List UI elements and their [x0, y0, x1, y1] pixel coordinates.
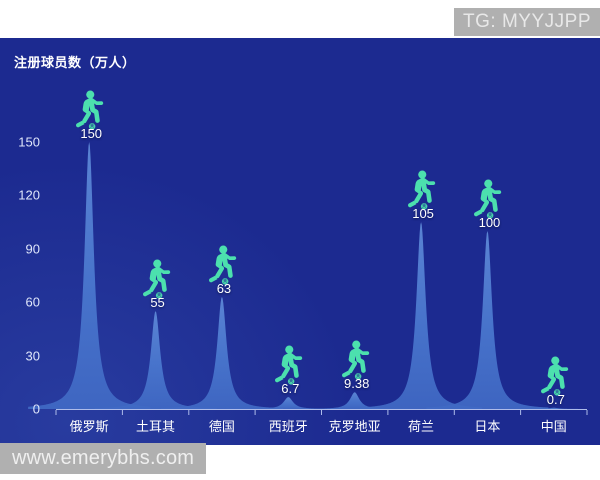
spike-bar[interactable]: [426, 231, 548, 409]
y-axis-tick-60: 60: [6, 295, 40, 310]
x-axis-tick-1: 俄罗斯: [70, 416, 109, 435]
watermark-bottom-left: www.emerybhs.com: [0, 443, 206, 474]
y-axis-tick-150: 150: [6, 135, 40, 150]
spike-bar[interactable]: [95, 311, 217, 409]
x-axis-tick-8: 中国: [541, 416, 567, 435]
value-label: 0.7: [547, 392, 565, 407]
x-axis-line-group: [56, 410, 587, 416]
value-label: 9.38: [344, 376, 369, 391]
x-axis-tick-6: 荷兰: [408, 416, 434, 435]
spike-bar[interactable]: [28, 142, 150, 409]
x-axis-tick-3: 德国: [209, 416, 235, 435]
value-label: 100: [479, 215, 501, 230]
value-label: 150: [80, 126, 102, 141]
x-axis-tick-5: 克罗地亚: [329, 416, 381, 435]
y-axis-tick-0: 0: [6, 402, 40, 417]
y-axis-tick-120: 120: [6, 188, 40, 203]
screenshot-root: TG: MYYJJPP 注册球员数（万人） 0306090120150 俄罗斯土…: [0, 0, 600, 480]
value-label: 6.7: [281, 381, 299, 396]
value-label: 63: [217, 281, 231, 296]
x-axis-tick-2: 土耳其: [136, 416, 175, 435]
y-axis-tick-90: 90: [6, 241, 40, 256]
chart-panel: 注册球员数（万人） 0306090120150 俄罗斯土耳其德国西班牙克罗地亚荷…: [0, 38, 600, 445]
x-axis-tick-4: 西班牙: [269, 416, 308, 435]
spike-bar[interactable]: [161, 297, 283, 409]
spike-bar[interactable]: [360, 222, 482, 409]
value-label: 105: [412, 206, 434, 221]
y-axis-tick-30: 30: [6, 348, 40, 363]
spike-series: [28, 142, 600, 409]
watermark-top-right: TG: MYYJJPP: [454, 8, 600, 36]
value-label: 55: [150, 295, 164, 310]
x-axis-tick-7: 日本: [474, 416, 500, 435]
